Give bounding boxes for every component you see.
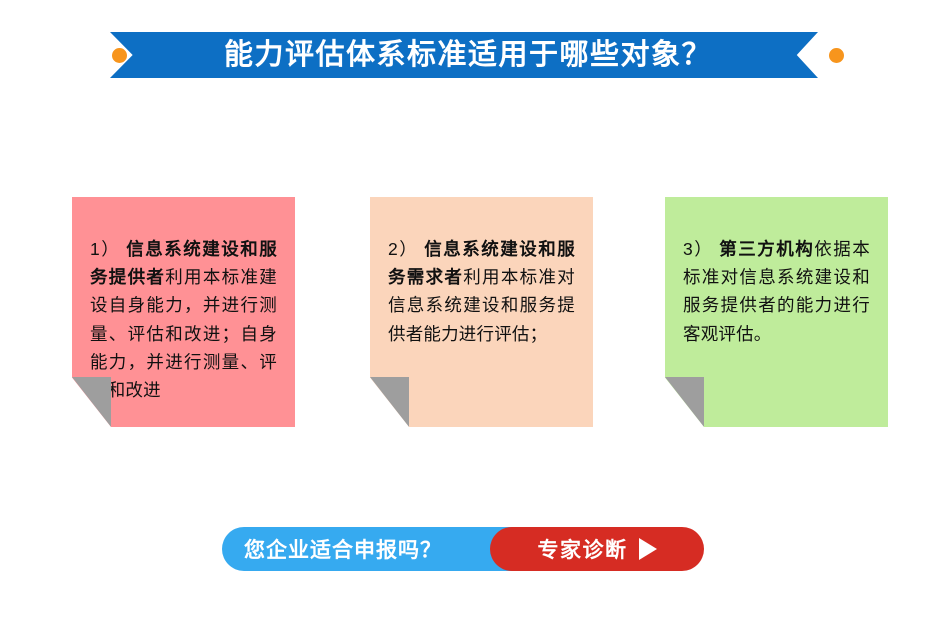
note-card-2: 2）信息系统建设和服务需求者利用本标准对信息系统建设和服务提供者能力进行评估； bbox=[370, 197, 593, 427]
folded-corner-icon-1 bbox=[72, 377, 111, 427]
card-lead-3: 第三方机构 bbox=[719, 239, 814, 259]
cta-question-label: 您企业适合申报吗？ bbox=[244, 534, 442, 564]
card-index-1: 1） bbox=[90, 239, 120, 259]
card-text-1: 1）信息系统建设和服务提供者利用本标准建设自身能力，并进行测量、评估和改进；自身… bbox=[90, 235, 277, 405]
folded-corner-icon-2 bbox=[370, 377, 409, 427]
card-text-3: 3）第三方机构依据本标准对信息系统建设和服务提供者的能力进行客观评估。 bbox=[683, 235, 870, 348]
card-index-3: 3） bbox=[683, 239, 713, 259]
note-card-3: 3）第三方机构依据本标准对信息系统建设和服务提供者的能力进行客观评估。 bbox=[665, 197, 888, 427]
page-title: 能力评估体系标准适用于哪些对象？ bbox=[224, 41, 712, 70]
cta-bar[interactable]: 您企业适合申报吗？ 专家诊断 bbox=[222, 527, 704, 571]
card-index-2: 2） bbox=[388, 239, 418, 259]
expert-diagnosis-button[interactable]: 专家诊断 bbox=[490, 527, 704, 571]
cards-row: 1）信息系统建设和服务提供者利用本标准建设自身能力，并进行测量、评估和改进；自身… bbox=[0, 197, 936, 429]
play-triangle-icon bbox=[639, 538, 657, 560]
banner-ribbon: 能力评估体系标准适用于哪些对象？ bbox=[110, 32, 818, 78]
cta-action-label: 专家诊断 bbox=[538, 534, 628, 564]
card-text-2: 2）信息系统建设和服务需求者利用本标准对信息系统建设和服务提供者能力进行评估； bbox=[388, 235, 575, 348]
orange-dot-icon-left bbox=[112, 48, 127, 63]
orange-dot-icon-right bbox=[829, 48, 844, 63]
folded-corner-icon-3 bbox=[665, 377, 704, 427]
note-card-1: 1）信息系统建设和服务提供者利用本标准建设自身能力，并进行测量、评估和改进；自身… bbox=[72, 197, 295, 427]
title-banner: 能力评估体系标准适用于哪些对象？ bbox=[0, 32, 936, 78]
